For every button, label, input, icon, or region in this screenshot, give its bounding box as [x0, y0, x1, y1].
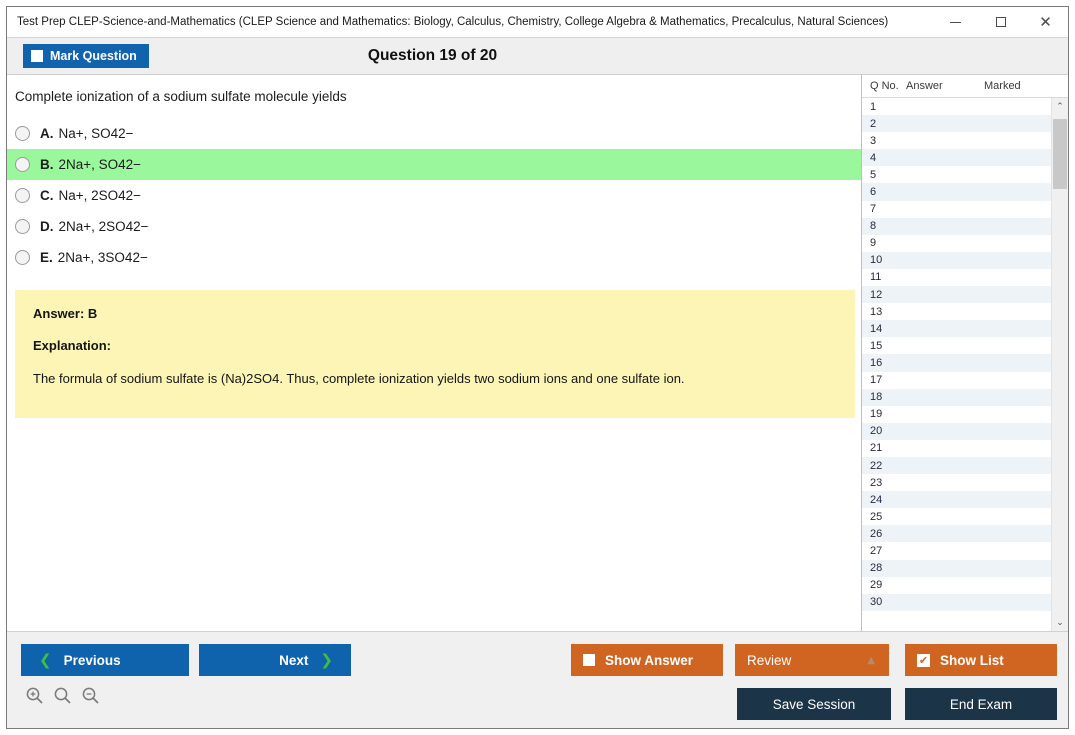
- question-list-row[interactable]: 2: [862, 115, 1051, 132]
- footer-toolbar: ❮ Previous Next ❯ Show Answer Review ▲ ✔…: [7, 631, 1068, 728]
- question-number-cell: 16: [862, 357, 906, 369]
- radio-icon-a[interactable]: [15, 126, 30, 141]
- question-list-row[interactable]: 9: [862, 235, 1051, 252]
- chevron-right-icon: ❯: [320, 651, 333, 669]
- question-number-cell: 4: [862, 152, 906, 164]
- option-row-d[interactable]: D. 2Na+, 2SO42−: [7, 211, 861, 242]
- question-number-cell: 27: [862, 545, 906, 557]
- question-list-row[interactable]: 4: [862, 149, 1051, 166]
- question-number-cell: 22: [862, 460, 906, 472]
- question-number-cell: 15: [862, 340, 906, 352]
- question-number-cell: 18: [862, 391, 906, 403]
- question-number-cell: 26: [862, 528, 906, 540]
- question-number-cell: 12: [862, 289, 906, 301]
- show-answer-label: Show Answer: [605, 653, 693, 668]
- question-number-cell: 13: [862, 306, 906, 318]
- question-list-row[interactable]: 17: [862, 372, 1051, 389]
- column-header-qno: Q No.: [862, 80, 906, 92]
- question-list-header: Q No. Answer Marked: [862, 75, 1068, 98]
- question-pane: Complete ionization of a sodium sulfate …: [7, 74, 861, 631]
- exam-window: Test Prep CLEP-Science-and-Mathematics (…: [6, 6, 1069, 729]
- show-answer-button[interactable]: Show Answer: [571, 644, 723, 676]
- question-list-row[interactable]: 16: [862, 354, 1051, 371]
- window-controls: ✕: [933, 7, 1068, 37]
- question-list-row[interactable]: 26: [862, 525, 1051, 542]
- question-rows: 1234567891011121314151617181920212223242…: [862, 98, 1051, 631]
- question-list-row[interactable]: 30: [862, 594, 1051, 611]
- zoom-out-icon[interactable]: [81, 686, 100, 705]
- show-list-label: Show List: [940, 653, 1004, 668]
- chevron-left-icon: ❮: [39, 651, 52, 669]
- scroll-down-icon[interactable]: ⌄: [1052, 614, 1068, 631]
- minimize-button[interactable]: [933, 7, 978, 37]
- zoom-in-icon[interactable]: [25, 686, 44, 705]
- option-row-e[interactable]: E. 2Na+, 3SO42−: [7, 242, 861, 273]
- question-list-row[interactable]: 19: [862, 406, 1051, 423]
- option-letter-e: E.: [40, 250, 53, 265]
- option-row-a[interactable]: A. Na+, SO42−: [7, 118, 861, 149]
- question-list-row[interactable]: 12: [862, 286, 1051, 303]
- question-list-row[interactable]: 14: [862, 320, 1051, 337]
- question-number-cell: 30: [862, 596, 906, 608]
- next-label: Next: [279, 653, 308, 668]
- question-number-cell: 21: [862, 442, 906, 454]
- answer-explanation-box: Answer: B Explanation: The formula of so…: [15, 290, 855, 418]
- question-number-cell: 25: [862, 511, 906, 523]
- option-text-e: 2Na+, 3SO42−: [58, 250, 148, 265]
- mark-question-checkbox-icon: [31, 50, 43, 62]
- next-button[interactable]: Next ❯: [199, 644, 351, 676]
- question-number-cell: 7: [862, 203, 906, 215]
- end-exam-label: End Exam: [950, 697, 1012, 712]
- question-list-row[interactable]: 20: [862, 423, 1051, 440]
- question-number-cell: 3: [862, 135, 906, 147]
- option-text-d: 2Na+, 2SO42−: [59, 219, 149, 234]
- title-bar: Test Prep CLEP-Science-and-Mathematics (…: [7, 7, 1068, 37]
- question-counter: Question 19 of 20: [7, 38, 1068, 74]
- question-number-cell: 29: [862, 579, 906, 591]
- save-session-button[interactable]: Save Session: [737, 688, 891, 720]
- option-text-b: 2Na+, SO42−: [59, 157, 142, 172]
- question-list-row[interactable]: 29: [862, 577, 1051, 594]
- option-row-b[interactable]: B. 2Na+, SO42−: [7, 149, 861, 180]
- question-number-cell: 24: [862, 494, 906, 506]
- window-title: Test Prep CLEP-Science-and-Mathematics (…: [7, 16, 933, 28]
- question-list-row[interactable]: 10: [862, 252, 1051, 269]
- question-number-cell: 8: [862, 220, 906, 232]
- question-number-cell: 1: [862, 101, 906, 113]
- question-number-cell: 28: [862, 562, 906, 574]
- question-list-panel: Q No. Answer Marked 12345678910111213141…: [861, 74, 1068, 631]
- column-header-marked: Marked: [978, 80, 1051, 92]
- option-text-a: Na+, SO42−: [59, 126, 134, 141]
- radio-icon-c[interactable]: [15, 188, 30, 203]
- question-list-row[interactable]: 23: [862, 474, 1051, 491]
- question-number-cell: 19: [862, 408, 906, 420]
- question-list-row[interactable]: 28: [862, 560, 1051, 577]
- option-letter-d: D.: [40, 219, 54, 234]
- question-list-row[interactable]: 7: [862, 201, 1051, 218]
- radio-icon-e[interactable]: [15, 250, 30, 265]
- question-list-row[interactable]: 18: [862, 389, 1051, 406]
- question-list-row[interactable]: 6: [862, 183, 1051, 200]
- question-number-cell: 20: [862, 425, 906, 437]
- question-stem: Complete ionization of a sodium sulfate …: [15, 89, 861, 104]
- question-list-row[interactable]: 8: [862, 218, 1051, 235]
- question-number-cell: 23: [862, 477, 906, 489]
- show-list-button[interactable]: ✔ Show List: [905, 644, 1057, 676]
- radio-icon-d[interactable]: [15, 219, 30, 234]
- question-list-row[interactable]: 13: [862, 303, 1051, 320]
- show-answer-checkbox-icon: [583, 654, 595, 666]
- question-number-cell: 5: [862, 169, 906, 181]
- close-icon: ✕: [1039, 15, 1052, 30]
- question-list-row[interactable]: 15: [862, 337, 1051, 354]
- question-number-cell: 9: [862, 237, 906, 249]
- mark-question-label: Mark Question: [50, 49, 137, 63]
- maximize-icon: [996, 17, 1006, 27]
- review-label: Review: [747, 653, 791, 668]
- options-list: A. Na+, SO42− B. 2Na+, SO42− C. Na+, 2SO…: [7, 118, 861, 273]
- question-number-cell: 11: [862, 271, 906, 283]
- option-letter-c: C.: [40, 188, 54, 203]
- previous-button[interactable]: ❮ Previous: [21, 644, 189, 676]
- question-list-row[interactable]: 25: [862, 508, 1051, 525]
- question-list-scrollbar[interactable]: ⌃ ⌄: [1051, 98, 1068, 631]
- exam-header: Mark Question Question 19 of 20: [7, 37, 1068, 74]
- question-list-row[interactable]: 3: [862, 132, 1051, 149]
- mark-question-button[interactable]: Mark Question: [23, 44, 149, 68]
- option-row-c[interactable]: C. Na+, 2SO42−: [7, 180, 861, 211]
- review-dropdown[interactable]: Review ▲: [735, 644, 889, 676]
- question-number-cell: 17: [862, 374, 906, 386]
- scroll-up-icon[interactable]: ⌃: [1052, 98, 1068, 115]
- explanation-label: Explanation:: [33, 338, 837, 353]
- question-list-row[interactable]: 5: [862, 166, 1051, 183]
- answer-label: Answer: B: [33, 306, 837, 321]
- previous-label: Previous: [64, 653, 121, 668]
- option-text-c: Na+, 2SO42−: [59, 188, 142, 203]
- scrollbar-thumb[interactable]: [1053, 119, 1067, 189]
- question-list-row[interactable]: 21: [862, 440, 1051, 457]
- chevron-up-icon: ▲: [867, 655, 875, 666]
- save-session-label: Save Session: [773, 697, 856, 712]
- body-area: Complete ionization of a sodium sulfate …: [7, 74, 1068, 631]
- maximize-button[interactable]: [978, 7, 1023, 37]
- show-list-checkbox-icon: ✔: [917, 654, 930, 667]
- zoom-reset-icon[interactable]: [53, 686, 72, 705]
- question-list-row[interactable]: 27: [862, 542, 1051, 559]
- question-list-row[interactable]: 1: [862, 98, 1051, 115]
- radio-icon-b[interactable]: [15, 157, 30, 172]
- question-number-cell: 2: [862, 118, 906, 130]
- question-list-row[interactable]: 22: [862, 457, 1051, 474]
- question-number-cell: 6: [862, 186, 906, 198]
- option-letter-a: A.: [40, 126, 54, 141]
- column-header-answer: Answer: [906, 80, 978, 92]
- explanation-text: The formula of sodium sulfate is (Na)2SO…: [33, 370, 837, 388]
- minimize-icon: [950, 22, 961, 23]
- option-letter-b: B.: [40, 157, 54, 172]
- end-exam-button[interactable]: End Exam: [905, 688, 1057, 720]
- close-button[interactable]: ✕: [1023, 7, 1068, 37]
- question-number-cell: 10: [862, 254, 906, 266]
- question-list-row[interactable]: 24: [862, 491, 1051, 508]
- zoom-toolbar: [25, 686, 100, 705]
- question-list-body: 1234567891011121314151617181920212223242…: [862, 98, 1068, 631]
- question-list-row[interactable]: 11: [862, 269, 1051, 286]
- question-number-cell: 14: [862, 323, 906, 335]
